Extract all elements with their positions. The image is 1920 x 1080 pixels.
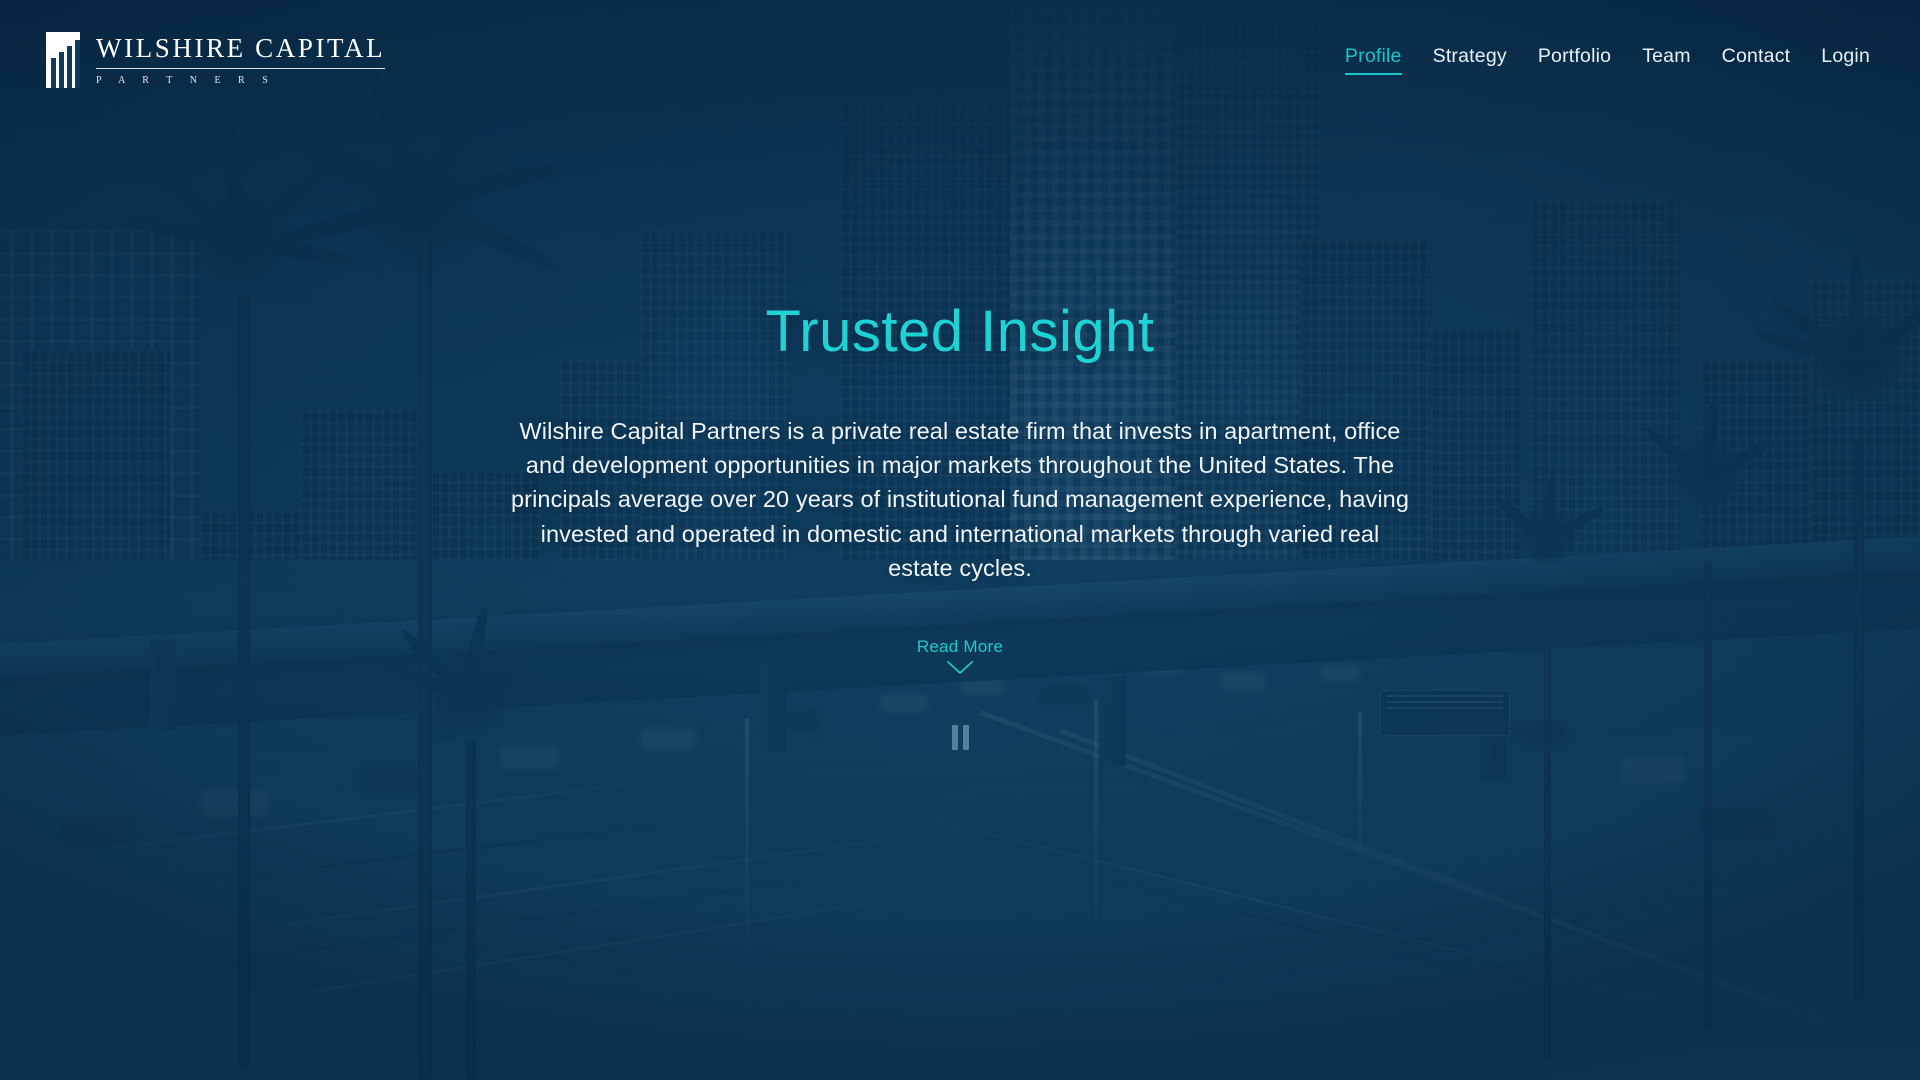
brand-logo-link[interactable]: WILSHIRE CAPITAL P A R T N E R S (46, 32, 385, 88)
chevron-down-icon[interactable] (947, 661, 973, 675)
pause-icon[interactable] (948, 722, 972, 752)
nav-item-login[interactable]: Login (1821, 45, 1870, 75)
brand-name: WILSHIRE CAPITAL (96, 34, 385, 69)
hero-headline: Trusted Insight (510, 300, 1410, 364)
hero-section: WILSHIRE CAPITAL P A R T N E R S Profile… (0, 0, 1920, 1080)
nav-item-profile[interactable]: Profile (1345, 45, 1402, 75)
nav-item-team[interactable]: Team (1642, 45, 1690, 75)
nav-item-contact[interactable]: Contact (1722, 45, 1791, 75)
main-navigation: Profile Strategy Portfolio Team Contact … (1345, 45, 1870, 75)
nav-item-strategy[interactable]: Strategy (1433, 45, 1507, 75)
building-columns-logo-icon (46, 32, 80, 88)
brand-wordmark: WILSHIRE CAPITAL P A R T N E R S (96, 34, 385, 86)
read-more-link[interactable]: Read More (917, 637, 1003, 657)
read-more-group: Read More (510, 637, 1410, 675)
site-header: WILSHIRE CAPITAL P A R T N E R S Profile… (0, 0, 1920, 120)
nav-item-portfolio[interactable]: Portfolio (1538, 45, 1611, 75)
hero-content: Trusted Insight Wilshire Capital Partner… (510, 300, 1410, 675)
hero-description: Wilshire Capital Partners is a private r… (510, 414, 1410, 585)
brand-tagline: P A R T N E R S (96, 75, 385, 86)
